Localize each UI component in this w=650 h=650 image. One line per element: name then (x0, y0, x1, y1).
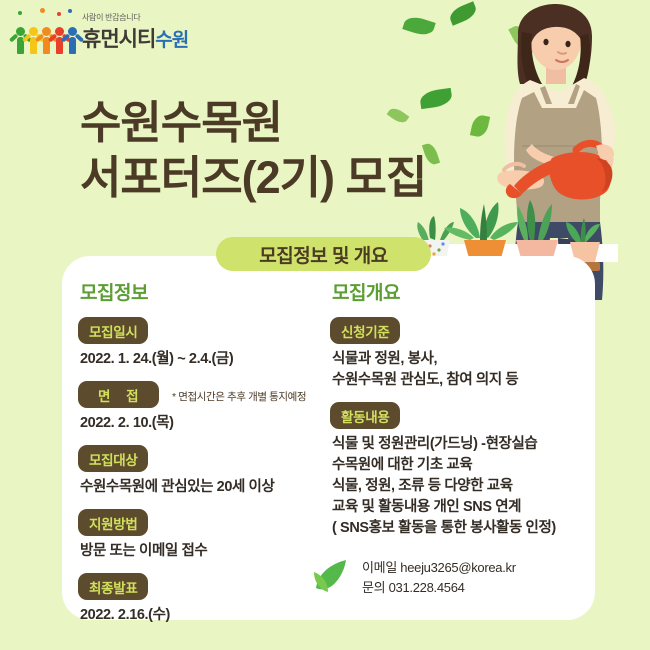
info-value: 방문 또는 이메일 접수 (80, 541, 328, 562)
info-block: 면 접 * 면접시간은 추후 개별 통지예정 2022. 2. 10.(목) (78, 381, 328, 434)
overview-lines: 식물 및 정원관리(가드닝) -현장실습 수목원에 대한 기초 교육 식물, 정… (332, 434, 582, 539)
overview-line: 수목원에 대한 기초 교육 (332, 455, 582, 476)
info-value: 수원수목원에 관심있는 20세 이상 (80, 477, 328, 498)
overview-block: 신청기준 식물과 정원, 봉사, 수원수목원 관심도, 참여 의지 등 (330, 317, 582, 391)
right-column-heading: 모집개요 (332, 278, 582, 305)
info-block: 모집일시 2022. 1. 24.(월) ~ 2.4.(금) (78, 317, 328, 370)
recruitment-info-column: 모집정보 모집일시 2022. 1. 24.(월) ~ 2.4.(금) 면 접 … (78, 278, 328, 626)
logo-tagline: 사람이 반갑습니다 (82, 12, 140, 23)
recruitment-overview-column: 모집개요 신청기준 식물과 정원, 봉사, 수원수목원 관심도, 참여 의지 등… (330, 278, 582, 539)
label-pill: 신청기준 (330, 317, 400, 344)
logo-name: 휴먼시티 (82, 28, 155, 51)
overview-line: 수원수목원 관심도, 참여 의지 등 (332, 370, 582, 391)
contact-email: 이메일 heeju3265@korea.kr (362, 558, 516, 578)
label-pill: 모집대상 (78, 445, 148, 472)
sparkle-icon (40, 8, 45, 13)
label-pill: 모집일시 (78, 317, 148, 344)
interview-note: * 면접시간은 추후 개별 통지예정 (172, 389, 306, 404)
contact-text: 이메일 heeju3265@korea.kr 문의 031.228.4564 (362, 558, 516, 597)
page-title: 수원수목원 서포터즈(2기) 모집 (80, 96, 426, 206)
label-pill: 지원방법 (78, 509, 148, 536)
logo: 사람이 반갑습니다 휴먼시티수원 (10, 8, 190, 60)
label-pill: 활동내용 (330, 402, 400, 429)
poster-canvas: 사람이 반갑습니다 휴먼시티수원 수원수목원 서포터즈(2기) 모집 (0, 0, 650, 650)
sparkle-icon (18, 11, 22, 15)
overview-line: 식물과 정원, 봉사, (332, 349, 582, 370)
info-block: 최종발표 2022. 2.16.(수) (78, 573, 328, 626)
section-banner-label: 모집정보 및 개요 (259, 241, 387, 268)
title-line-1: 수원수목원 (80, 96, 426, 151)
overview-line: 식물 및 정원관리(가드닝) -현장실습 (332, 434, 582, 455)
label-pill: 면 접 (78, 381, 159, 408)
leaf-sprout-icon (312, 558, 352, 596)
title-line-2: 서포터즈(2기) 모집 (80, 151, 426, 206)
info-value: 2022. 2.16.(수) (80, 605, 328, 626)
sparkle-icon (57, 12, 61, 16)
left-column-heading: 모집정보 (80, 278, 328, 305)
illustration-woman-watering (400, 0, 650, 300)
logo-wordmark: 휴먼시티수원 (82, 23, 188, 53)
section-banner: 모집정보 및 개요 (216, 237, 431, 271)
info-block: 지원방법 방문 또는 이메일 접수 (78, 509, 328, 562)
info-value: 2022. 1. 24.(월) ~ 2.4.(금) (80, 349, 328, 370)
contact-phone: 문의 031.228.4564 (362, 578, 516, 598)
sparkle-icon (68, 9, 72, 13)
info-value: 2022. 2. 10.(목) (80, 413, 328, 434)
contact-info: 이메일 heeju3265@korea.kr 문의 031.228.4564 (312, 558, 516, 597)
logo-figure (66, 27, 79, 54)
label-pill: 최종발표 (78, 573, 148, 600)
logo-name-accent: 수원 (155, 30, 188, 51)
info-block: 모집대상 수원수목원에 관심있는 20세 이상 (78, 445, 328, 498)
overview-line: 식물, 정원, 조류 등 다양한 교육 (332, 476, 582, 497)
overview-line: 교육 및 활동내용 개인 SNS 연계 (332, 497, 582, 518)
overview-line: ( SNS홍보 활동을 통한 봉사활동 인정) (332, 518, 582, 539)
overview-block: 활동내용 식물 및 정원관리(가드닝) -현장실습 수목원에 대한 기초 교육 … (330, 402, 582, 539)
overview-lines: 식물과 정원, 봉사, 수원수목원 관심도, 참여 의지 등 (332, 349, 582, 391)
